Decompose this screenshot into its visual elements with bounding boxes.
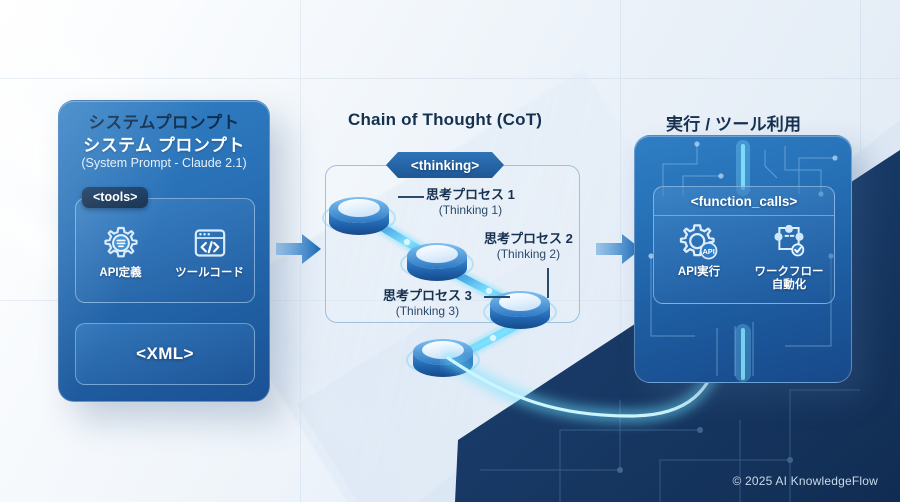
workflow-automation-label: ワークフロー 自動化 [750,266,828,292]
gear-api-icon: API [660,220,738,264]
cot-node-2-label: 思考プロセス 2 (Thinking 2) [484,231,573,262]
leader-line-1 [398,196,424,198]
system-prompt-title: システム プロンプト [59,131,269,156]
workflow-automation-item[interactable]: ワークフロー 自動化 [750,220,828,292]
diagram-canvas: システムプロンプト システム プロンプト (System Prompt - Cl… [0,0,900,502]
svg-text:API: API [702,247,714,256]
system-prompt-subtitle: (System Prompt - Claude 2.1) [59,156,269,170]
tool-code-label: ツールコード [171,267,249,280]
execution-panel[interactable]: <function_calls> API API実行 [634,135,852,383]
api-definition-label: API定義 [82,267,160,280]
function-calls-card[interactable]: <function_calls> API API実行 [653,186,835,304]
workflow-check-icon [750,220,828,264]
grid-line [0,78,900,79]
cot-node-3-label: 思考プロセス 3 (Thinking 3) [383,288,472,319]
leader-line-3 [484,296,510,298]
system-prompt-panel[interactable]: システムプロンプト システム プロンプト (System Prompt - Cl… [58,100,270,402]
api-execution-label: API実行 [660,266,738,279]
leader-line-2 [547,268,549,298]
grid-line [860,0,861,502]
code-window-icon [171,221,249,265]
cot-node-1 [329,197,389,235]
function-calls-tag: <function_calls> [654,187,834,216]
xml-card[interactable]: <XML> [75,323,255,385]
gear-icon [82,221,160,265]
tool-code-item[interactable]: ツールコード [171,221,249,280]
api-definition-item[interactable]: API定義 [82,221,160,280]
footer-copyright: © 2025 AI KnowledgeFlow [732,474,878,488]
tools-card[interactable]: <tools> [75,198,255,303]
xml-label: <XML> [136,344,194,364]
cot-node-1-label: 思考プロセス 1 (Thinking 1) [426,187,515,218]
cot-node-2 [407,243,467,281]
api-execution-item[interactable]: API API実行 [660,220,738,279]
tools-tag: <tools> [82,187,148,208]
right-panel-title: 実行 / ツール利用 [666,110,801,135]
system-prompt-title-outline: システムプロンプト [59,109,269,133]
center-panel-title: Chain of Thought (CoT) [348,110,542,130]
